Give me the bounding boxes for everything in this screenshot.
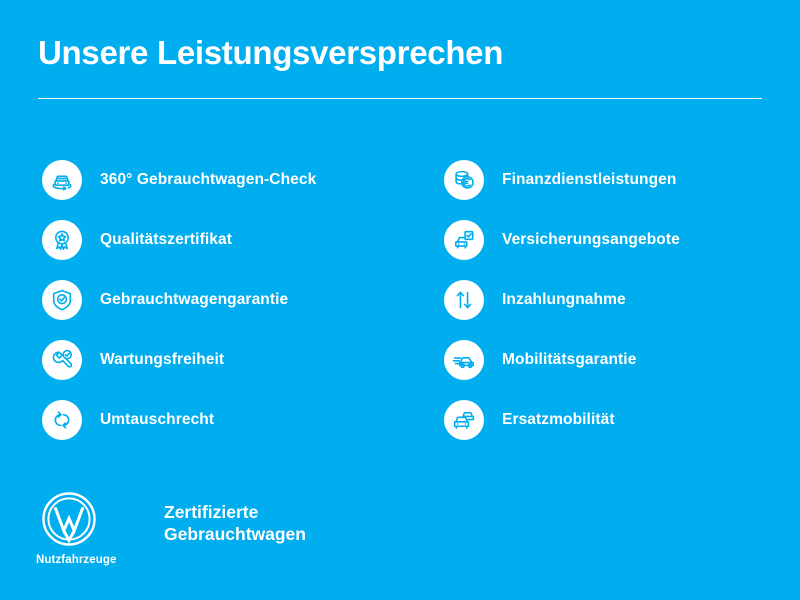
wrench-check-icon	[42, 340, 82, 380]
arrows-up-down-icon	[444, 280, 484, 320]
brand-claim-line-2: Gebrauchtwagen	[164, 524, 306, 546]
exchange-arrows-icon	[42, 400, 82, 440]
feature-label: Mobilitätsgarantie	[502, 351, 636, 369]
feature-item-replacement-mobility[interactable]: Ersatzmobilität	[444, 390, 800, 450]
feature-item-trade-in[interactable]: Inzahlungnahme	[444, 270, 800, 330]
car-360-rotate-icon	[42, 160, 82, 200]
coins-euro-icon	[444, 160, 484, 200]
feature-label: Umtauschrecht	[100, 411, 214, 429]
brand-mark: Nutzfahrzeuge	[36, 490, 128, 566]
header: Unsere Leistungsversprechen	[38, 34, 762, 99]
shield-check-icon	[42, 280, 82, 320]
brand-claim: Zertifizierte Gebrauchtwagen	[164, 502, 306, 546]
feature-column-left: 360° Gebrauchtwagen-Check Qualitätszerti…	[0, 150, 400, 450]
feature-item-360-check[interactable]: 360° Gebrauchtwagen-Check	[42, 150, 400, 210]
feature-label: Gebrauchtwagengarantie	[100, 291, 288, 309]
feature-label: Ersatzmobilität	[502, 411, 615, 429]
car-speed-icon	[444, 340, 484, 380]
feature-label: Inzahlungnahme	[502, 291, 626, 309]
page-title: Unsere Leistungsversprechen	[38, 34, 762, 72]
car-document-check-icon	[444, 220, 484, 260]
feature-label: 360° Gebrauchtwagen-Check	[100, 171, 316, 189]
feature-column-right: Finanzdienstleistungen Versicheru	[400, 150, 800, 450]
feature-item-mobility-guarantee[interactable]: Mobilitätsgarantie	[444, 330, 800, 390]
feature-item-warranty[interactable]: Gebrauchtwagengarantie	[42, 270, 400, 330]
brand-claim-line-1: Zertifizierte	[164, 502, 306, 524]
slide-root: Unsere Leistungsversprechen	[0, 0, 800, 600]
feature-label: Wartungsfreiheit	[100, 351, 224, 369]
feature-label: Finanzdienstleistungen	[502, 171, 676, 189]
feature-label: Versicherungsangebote	[502, 231, 680, 249]
brand-sub-label: Nutzfahrzeuge	[36, 554, 128, 566]
feature-label: Qualitätszertifikat	[100, 231, 232, 249]
feature-item-financial-services[interactable]: Finanzdienstleistungen	[444, 150, 800, 210]
feature-item-maintenance-free[interactable]: Wartungsfreiheit	[42, 330, 400, 390]
brand-footer: Nutzfahrzeuge Zertifizierte Gebrauchtwag…	[36, 490, 306, 566]
two-cars-icon	[444, 400, 484, 440]
award-rosette-icon	[42, 220, 82, 260]
feature-item-insurance-offers[interactable]: Versicherungsangebote	[444, 210, 800, 270]
title-divider	[38, 98, 762, 99]
volkswagen-logo	[40, 490, 98, 548]
feature-item-quality-certificate[interactable]: Qualitätszertifikat	[42, 210, 400, 270]
feature-lists: 360° Gebrauchtwagen-Check Qualitätszerti…	[0, 150, 800, 450]
feature-item-exchange-right[interactable]: Umtauschrecht	[42, 390, 400, 450]
